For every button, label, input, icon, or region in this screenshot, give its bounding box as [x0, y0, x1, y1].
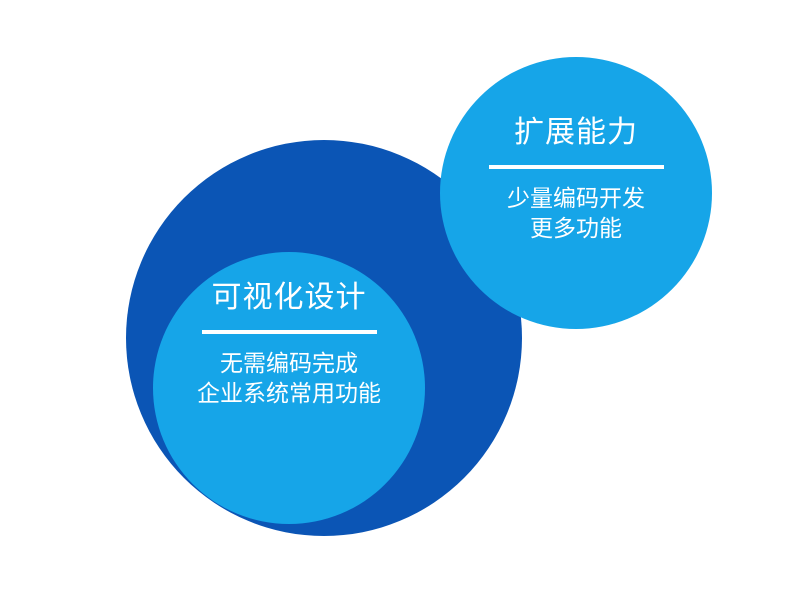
capability-circle: 扩展能力 少量编码开发 更多功能 [440, 57, 712, 329]
capability-title: 扩展能力 [440, 115, 712, 151]
capability-desc-line2: 更多功能 [440, 213, 712, 243]
capability-content: 扩展能力 少量编码开发 更多功能 [440, 115, 712, 243]
visual-design-circle: 可视化设计 无需编码完成 企业系统常用功能 [153, 252, 425, 524]
capability-desc-line1: 少量编码开发 [440, 183, 712, 213]
visual-design-desc-line2: 企业系统常用功能 [153, 378, 425, 408]
diagram-canvas: 可视化设计 无需编码完成 企业系统常用功能 扩展能力 少量编码开发 更多功能 [0, 0, 800, 600]
visual-design-divider [202, 330, 377, 334]
visual-design-desc-line1: 无需编码完成 [153, 348, 425, 378]
capability-divider [489, 165, 664, 169]
visual-design-title: 可视化设计 [153, 280, 425, 316]
visual-design-content: 可视化设计 无需编码完成 企业系统常用功能 [153, 280, 425, 408]
